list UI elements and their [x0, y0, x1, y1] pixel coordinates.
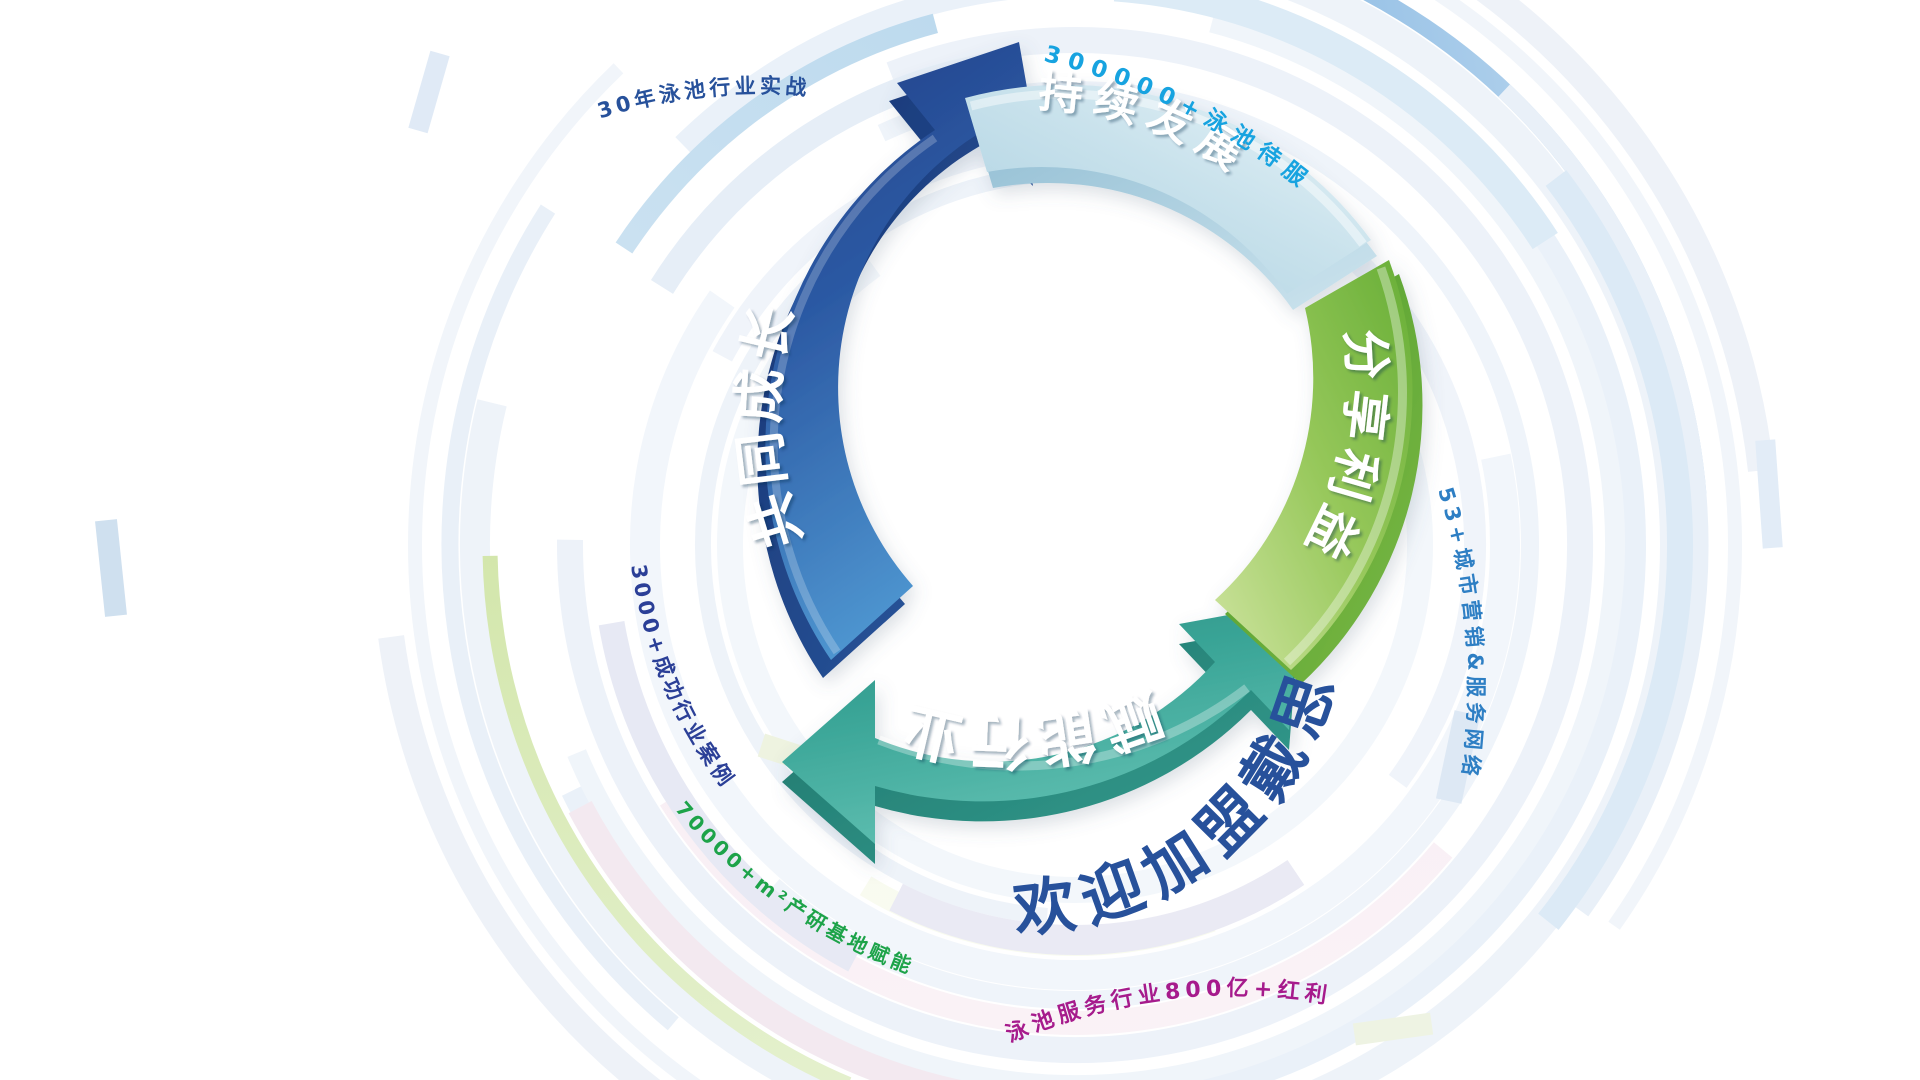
infographic-canvas: 共同成长 持续发展 分享利益 赋能行业 30年泳池行业实战经验 [0, 0, 1920, 1080]
center-title-text: 欢迎加盟戴思乐 [0, 0, 1353, 947]
center-title: 欢迎加盟戴思乐 [0, 0, 1920, 1080]
